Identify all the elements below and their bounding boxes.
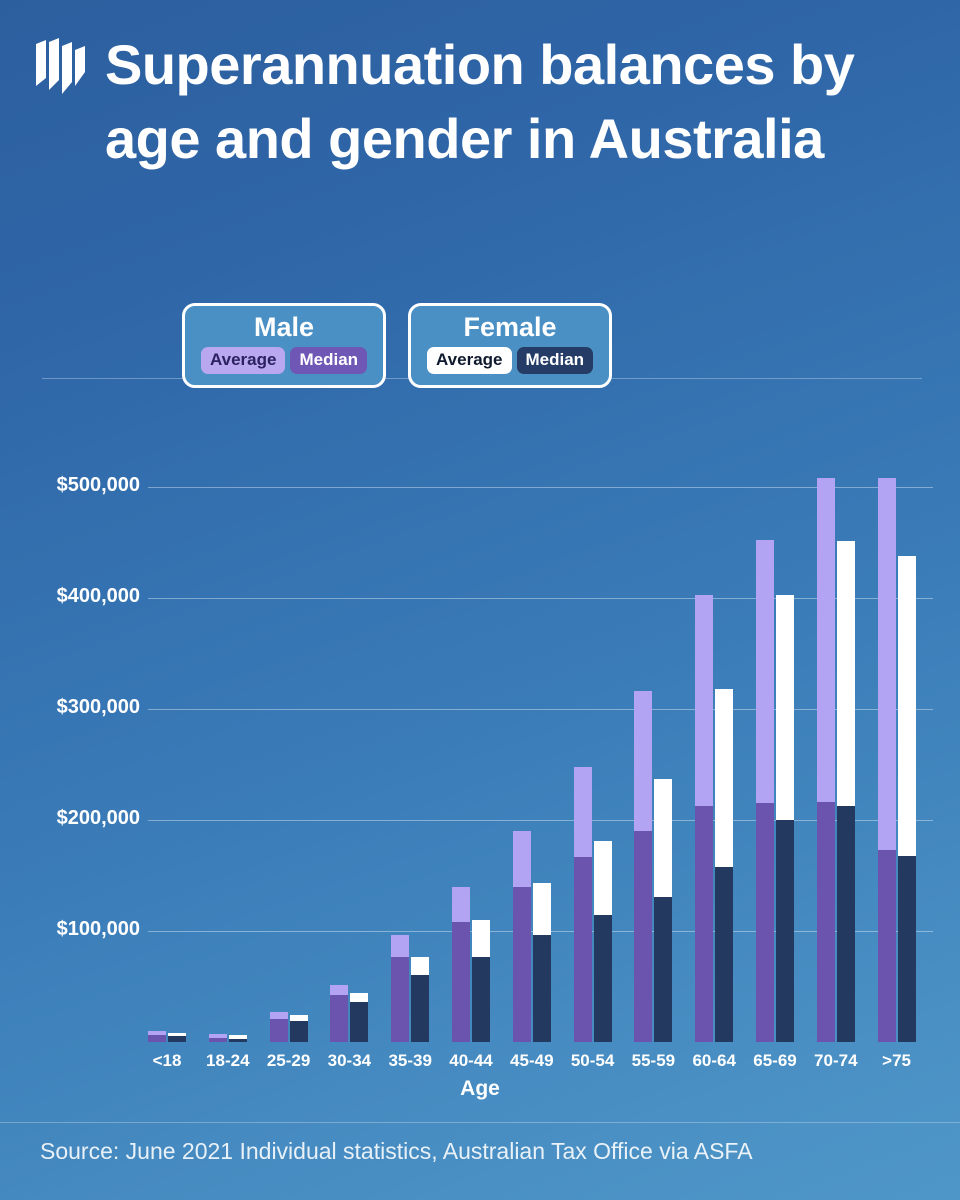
bar-female-median	[350, 1002, 368, 1042]
bar-female-median	[776, 820, 794, 1042]
gridline	[148, 598, 933, 599]
bar-male-median	[756, 803, 774, 1042]
x-axis-tick-label: 65-69	[744, 1051, 806, 1071]
x-axis-tick-label: 55-59	[622, 1051, 684, 1071]
bar-female-median	[594, 915, 612, 1042]
y-axis-tick-label: $200,000	[30, 807, 140, 830]
bar-female-median	[168, 1036, 186, 1042]
x-axis-tick-label: 25-29	[258, 1051, 320, 1071]
y-axis-tick-label: $100,000	[30, 918, 140, 941]
x-axis-tick-label: >75	[866, 1051, 928, 1071]
bar-female-median	[533, 935, 551, 1042]
x-axis-tick-label: 60-64	[683, 1051, 745, 1071]
bar-female-median	[837, 806, 855, 1042]
x-axis-title: Age	[0, 1077, 960, 1101]
source-note: Source: June 2021 Individual statistics,…	[40, 1138, 930, 1165]
bar-male-median	[513, 887, 531, 1042]
bar-female-median	[472, 957, 490, 1042]
y-axis-tick-label: $500,000	[30, 474, 140, 497]
legend-chip-female-median[interactable]: Median	[517, 347, 594, 374]
gridline	[148, 487, 933, 488]
legend-group-male[interactable]: Male Average Median	[182, 303, 386, 388]
x-axis-tick-label: 40-44	[440, 1051, 502, 1071]
bar-male-median	[330, 995, 348, 1042]
bar-female-median	[229, 1039, 247, 1042]
footer-divider	[0, 1122, 960, 1123]
legend-group-male-title: Male	[201, 312, 367, 343]
bar-male-median	[148, 1035, 166, 1042]
legend-chip-male-average[interactable]: Average	[201, 347, 285, 374]
gridline	[148, 820, 933, 821]
x-axis-tick-label: 35-39	[379, 1051, 441, 1071]
bar-male-median	[391, 957, 409, 1042]
bar-male-median	[209, 1038, 227, 1042]
x-axis-tick-label: 18-24	[197, 1051, 259, 1071]
bar-male-median	[452, 922, 470, 1042]
x-axis-tick-label: 50-54	[562, 1051, 624, 1071]
chart-legend: Male Average Median Female Average Media…	[182, 303, 612, 388]
y-axis-tick-label: $400,000	[30, 585, 140, 608]
bar-female-median	[411, 975, 429, 1042]
bar-female-median	[654, 897, 672, 1042]
x-axis-tick-label: 70-74	[805, 1051, 867, 1071]
bar-female-median	[898, 856, 916, 1042]
bar-male-median	[878, 850, 896, 1042]
legend-chip-female-average[interactable]: Average	[427, 347, 511, 374]
bar-female-median	[715, 867, 733, 1042]
bar-chart: $100,000$200,000$300,000$400,000$500,000…	[0, 0, 960, 1200]
bar-male-median	[270, 1019, 288, 1042]
legend-chip-male-median[interactable]: Median	[290, 347, 367, 374]
bar-male-median	[695, 806, 713, 1042]
bar-male-median	[634, 831, 652, 1042]
y-axis-tick-label: $300,000	[30, 696, 140, 719]
legend-group-female[interactable]: Female Average Median	[408, 303, 612, 388]
legend-group-female-title: Female	[427, 312, 593, 343]
x-axis-tick-label: 45-49	[501, 1051, 563, 1071]
x-axis-tick-label: <18	[136, 1051, 198, 1071]
gridline	[148, 709, 933, 710]
bar-male-median	[574, 857, 592, 1042]
x-axis-tick-label: 30-34	[318, 1051, 380, 1071]
bar-female-median	[290, 1021, 308, 1042]
bar-male-median	[817, 802, 835, 1042]
